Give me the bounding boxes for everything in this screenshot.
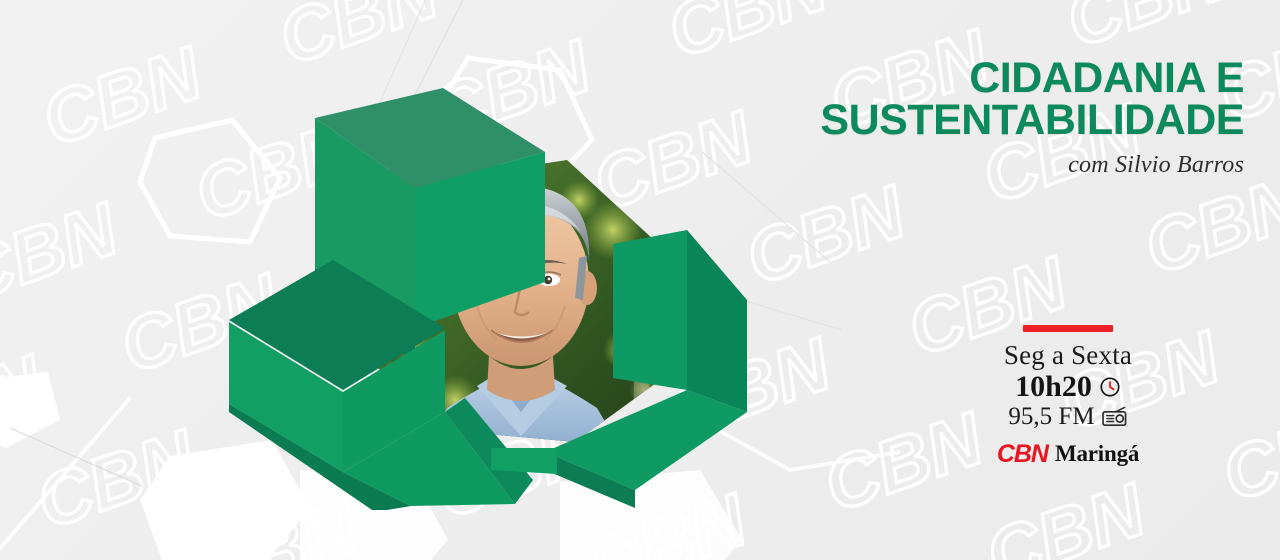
schedule-frequency: 95,5 FM <box>1008 403 1094 431</box>
title-line-2: SUSTENTABILIDADE <box>624 100 1244 142</box>
title-subtitle: com Silvio Barros <box>624 152 1244 179</box>
radio-icon <box>1102 406 1128 428</box>
deco-solid-1 <box>0 372 60 448</box>
schedule-frequency-row: 95,5 FM <box>968 403 1168 431</box>
deco-line-2 <box>10 428 142 486</box>
clock-icon <box>1099 376 1121 398</box>
station-logo: CBN Maringá <box>968 440 1168 469</box>
station-city: Maringá <box>1055 441 1139 467</box>
station-mark: CBN <box>997 440 1048 469</box>
deco-line-1 <box>0 398 130 560</box>
schedule-days: Seg a Sexta <box>968 340 1168 370</box>
program-title-block: CIDADANIA E SUSTENTABILIDADE com Silvio … <box>624 58 1244 179</box>
schedule-time-row: 10h20 <box>968 370 1168 403</box>
red-accent-rule <box>1023 325 1113 332</box>
schedule-time: 10h20 <box>1015 370 1092 403</box>
title-line-1: CIDADANIA E <box>624 58 1244 100</box>
program-banner: CBN <box>0 0 1280 560</box>
